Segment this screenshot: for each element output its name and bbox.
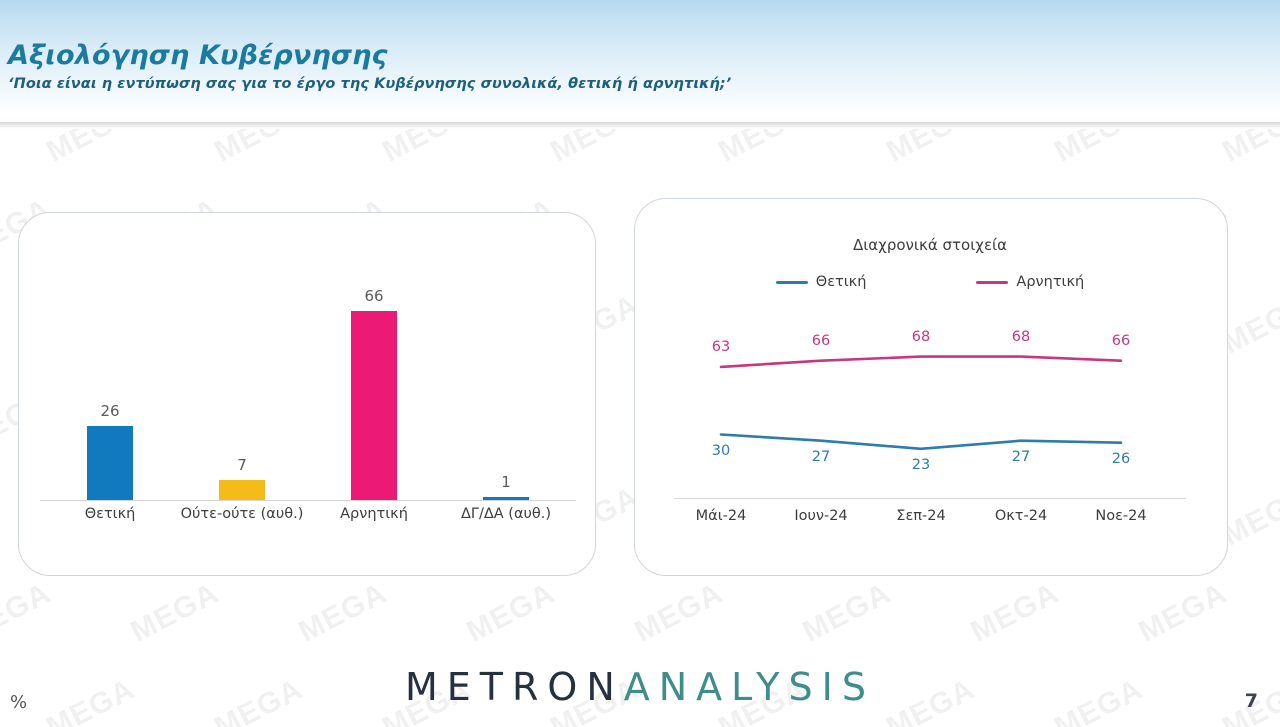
bar-value-label: 7 — [176, 456, 308, 474]
metron-analysis-logo: METRONANALYSIS — [0, 665, 1280, 709]
page-title: Αξιολόγηση Κυβέρνησης — [8, 40, 388, 71]
bar — [483, 497, 529, 500]
bar-value-label: 26 — [44, 402, 176, 420]
bar-chart: 26Θετική7Ούτε-ούτε (αυθ.)66Αρνητική1ΔΓ/Δ… — [18, 300, 594, 550]
data-point-label: 27 — [996, 449, 1046, 465]
data-point-label: 66 — [1096, 333, 1146, 349]
x-axis-tick-label: Οκτ-24 — [966, 508, 1076, 524]
slide-header: Αξιολόγηση Κυβέρνησης ‘Ποια είναι η εντύ… — [0, 0, 1280, 129]
bar-group: 1ΔΓ/ΔΑ (αυθ.) — [440, 300, 572, 500]
bar — [87, 426, 133, 500]
data-point-label: 68 — [896, 329, 946, 345]
x-axis-tick-label: Μάι-24 — [666, 508, 776, 524]
bar-group: 26Θετική — [44, 300, 176, 500]
data-point-label: 68 — [996, 329, 1046, 345]
line-series-positive — [721, 435, 1121, 449]
watermark-text: MEGA — [0, 577, 57, 650]
x-axis-tick-label: Σεπ-24 — [866, 508, 976, 524]
page-number: 7 — [1245, 690, 1258, 712]
watermark-text: MEGA — [461, 577, 560, 650]
line-chart: Διαχρονικά στοιχεία Θετική Αρνητική 3027… — [634, 198, 1226, 574]
bar-chart-axis — [40, 500, 576, 501]
watermark-text: MEGA — [125, 577, 224, 650]
watermark-text: MEGA — [629, 577, 728, 650]
x-axis-tick-label: Ιουν-24 — [766, 508, 876, 524]
data-point-label: 30 — [696, 443, 746, 459]
watermark-text: MEGA — [1133, 577, 1232, 650]
brand-analysis: ANALYSIS — [624, 665, 875, 709]
bar-group: 66Αρνητική — [308, 300, 440, 500]
bar — [351, 311, 397, 500]
bar-group: 7Ούτε-ούτε (αυθ.) — [176, 300, 308, 500]
watermark-text: MEGA — [797, 577, 896, 650]
header-divider — [0, 122, 1280, 129]
bar — [219, 480, 265, 500]
data-point-label: 27 — [796, 449, 846, 465]
watermark-text: MEGA — [293, 577, 392, 650]
watermark-text: MEGA — [965, 577, 1064, 650]
data-point-label: 26 — [1096, 451, 1146, 467]
line-series-negative — [721, 357, 1121, 367]
bar-value-label: 1 — [440, 473, 572, 491]
bar-value-label: 66 — [308, 287, 440, 305]
bar-category-label: ΔΓ/ΔΑ (αυθ.) — [426, 506, 586, 522]
data-point-label: 23 — [896, 457, 946, 473]
page-subtitle: ‘Ποια είναι η εντύπωση σας για το έργο τ… — [8, 76, 731, 92]
percent-unit-label: % — [10, 692, 27, 713]
data-point-label: 63 — [696, 339, 746, 355]
data-point-label: 66 — [796, 333, 846, 349]
x-axis-tick-label: Νοε-24 — [1066, 508, 1176, 524]
line-chart-axis — [674, 498, 1186, 499]
brand-metron: METRON — [405, 665, 624, 709]
